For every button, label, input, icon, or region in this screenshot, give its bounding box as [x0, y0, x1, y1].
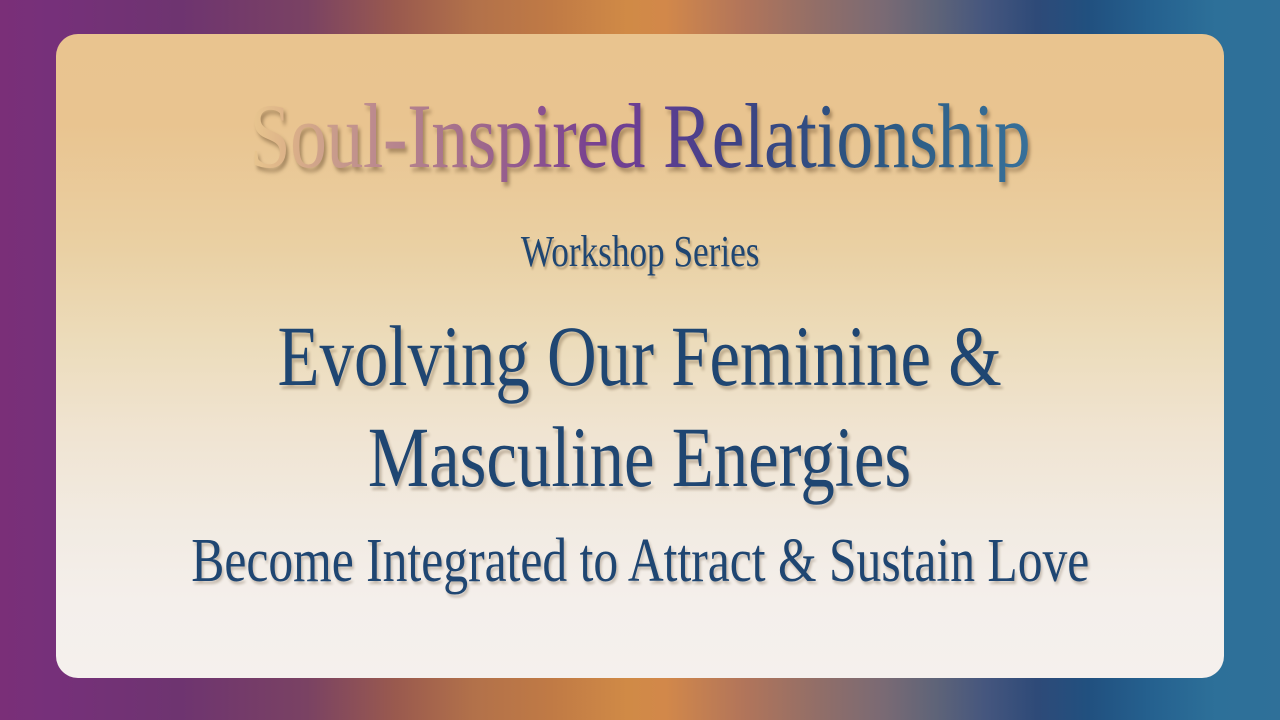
tagline-block: Become Integrated to Attract & Sustain L…: [56, 526, 1224, 597]
headline-line-2: Masculine Energies: [56, 407, 1224, 508]
series-block: Workshop Series: [56, 226, 1224, 277]
content-card: Soul-Inspired Relationship Workshop Seri…: [56, 34, 1224, 678]
headline-block: Evolving Our Feminine & Masculine Energi…: [56, 306, 1224, 509]
title-block: Soul-Inspired Relationship: [56, 90, 1224, 182]
page-title: Soul-Inspired Relationship: [250, 90, 1031, 182]
headline-line-1: Evolving Our Feminine &: [56, 306, 1224, 407]
slide-canvas: Soul-Inspired Relationship Workshop Seri…: [0, 0, 1280, 720]
series-subtitle: Workshop Series: [521, 226, 760, 277]
headline-line-1-text: Evolving Our Feminine &: [278, 306, 1002, 407]
tagline: Become Integrated to Attract & Sustain L…: [191, 526, 1089, 597]
headline-line-2-text: Masculine Energies: [368, 407, 911, 508]
